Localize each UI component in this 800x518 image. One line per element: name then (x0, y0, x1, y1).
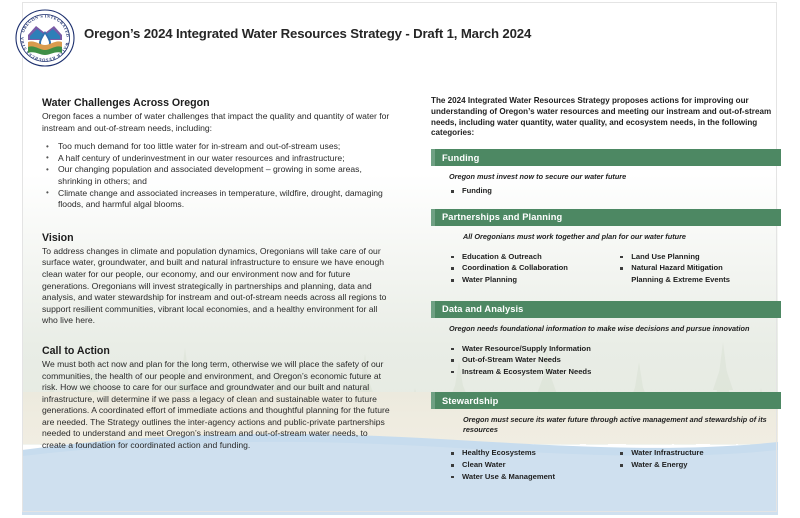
left-content-column: Water Challenges Across Oregon Oregon fa… (42, 96, 390, 452)
category-items: Funding (449, 186, 781, 198)
bullet-list: Education & Outreach Coordination & Coll… (449, 252, 618, 286)
list-item: Instream & Ecosystem Water Needs (449, 367, 618, 378)
list-item: Water Use & Management (449, 472, 618, 483)
list-item: Education & Outreach (449, 252, 618, 263)
category-body: Oregon must secure its water future thro… (431, 409, 781, 483)
slide-page: OREGON'S INTEGRATED WATER RESOURCES STRA… (0, 0, 800, 518)
list-item: Planning & Extreme Events (618, 275, 781, 286)
list-item: Land Use Planning (618, 252, 781, 263)
items-col-left: Funding (449, 186, 618, 198)
spacer (42, 211, 390, 231)
category-funding: Funding Oregon must invest now to secure… (431, 149, 781, 198)
category-partnerships-and-planning: Partnerships and Planning All Oregonians… (431, 209, 781, 287)
category-stewardship: Stewardship Oregon must secure its water… (431, 392, 781, 483)
bullet-list: Water Infrastructure Water & Energy (618, 448, 781, 470)
items-col-right: Land Use Planning Natural Hazard Mitigat… (618, 252, 781, 287)
list-item: Climate change and associated increases … (42, 188, 390, 211)
section-heading: Vision (42, 231, 390, 245)
category-tagline: All Oregonians must work together and pl… (463, 232, 781, 242)
bullet-list: Water Resource/Supply Information Out-of… (449, 344, 618, 378)
section-water-challenges: Water Challenges Across Oregon Oregon fa… (42, 96, 390, 211)
list-item: Clean Water (449, 460, 618, 471)
list-item: Our changing population and associated d… (42, 164, 390, 187)
document-header: OREGON'S INTEGRATED WATER RESOURCES STRA… (0, 0, 800, 72)
items-col-left: Education & Outreach Coordination & Coll… (449, 252, 618, 287)
category-body: All Oregonians must work together and pl… (431, 226, 781, 287)
section-heading: Water Challenges Across Oregon (42, 96, 390, 110)
items-col-right (618, 344, 781, 379)
spacer (449, 439, 781, 448)
category-header-bar[interactable]: Funding (431, 149, 781, 166)
right-content-column: The 2024 Integrated Water Resources Stra… (431, 96, 781, 483)
bullet-list: Healthy Ecosystems Clean Water Water Use… (449, 448, 618, 482)
list-item: Natural Hazard Mitigation (618, 263, 781, 274)
list-item: Water Planning (449, 275, 618, 286)
section-vision: Vision To address changes in climate and… (42, 231, 390, 327)
category-data-and-analysis: Data and Analysis Oregon needs foundatio… (431, 301, 781, 379)
section-paragraph: We must both act now and plan for the lo… (42, 359, 390, 452)
list-item: Water & Energy (618, 460, 781, 471)
list-item: A half century of underinvestment in our… (42, 153, 390, 165)
bullet-list: Funding (449, 186, 618, 197)
spacer (431, 378, 781, 392)
bullet-list: Land Use Planning Natural Hazard Mitigat… (618, 252, 781, 286)
category-title: Funding (442, 153, 479, 163)
category-items: Healthy Ecosystems Clean Water Water Use… (449, 448, 781, 483)
section-paragraph: Oregon faces a number of water challenge… (42, 111, 390, 134)
category-body: Oregon needs foundational information to… (431, 318, 781, 379)
category-header-bar[interactable]: Partnerships and Planning (431, 209, 781, 226)
challenges-bullet-list: Too much demand for too little water for… (42, 141, 390, 211)
list-item: Healthy Ecosystems (449, 448, 618, 459)
items-col-right (618, 186, 781, 198)
items-col-left: Water Resource/Supply Information Out-of… (449, 344, 618, 379)
strategy-intro-text: The 2024 Integrated Water Resources Stra… (431, 96, 781, 139)
spacer (431, 198, 781, 209)
items-col-left: Healthy Ecosystems Clean Water Water Use… (449, 448, 618, 483)
category-title: Stewardship (442, 396, 498, 406)
list-item: Out-of-Stream Water Needs (449, 355, 618, 366)
items-col-right: Water Infrastructure Water & Energy (618, 448, 781, 483)
page-title: Oregon’s 2024 Integrated Water Resources… (84, 26, 531, 41)
section-paragraph: To address changes in climate and popula… (42, 246, 390, 327)
list-item: Too much demand for too little water for… (42, 141, 390, 153)
category-tagline: Oregon must secure its water future thro… (463, 415, 781, 435)
spacer (431, 287, 781, 301)
category-items: Water Resource/Supply Information Out-of… (449, 344, 781, 379)
list-item: Funding (449, 186, 618, 197)
list-item: Water Infrastructure (618, 448, 781, 459)
category-title: Data and Analysis (442, 304, 523, 314)
section-call-to-action: Call to Action We must both act now and … (42, 344, 390, 452)
spacer (42, 327, 390, 344)
section-heading: Call to Action (42, 344, 390, 358)
oregon-iwrs-seal-logo-icon: OREGON'S INTEGRATED WATER RESOURCES STRA… (14, 9, 76, 67)
category-body: Oregon must invest now to secure our wat… (431, 166, 781, 198)
category-items: Education & Outreach Coordination & Coll… (449, 252, 781, 287)
list-item: Water Resource/Supply Information (449, 344, 618, 355)
category-header-bar[interactable]: Stewardship (431, 392, 781, 409)
category-header-bar[interactable]: Data and Analysis (431, 301, 781, 318)
list-item: Coordination & Collaboration (449, 263, 618, 274)
category-tagline: Oregon must invest now to secure our wat… (449, 172, 781, 182)
category-tagline: Oregon needs foundational information to… (449, 324, 781, 334)
category-title: Partnerships and Planning (442, 212, 562, 222)
